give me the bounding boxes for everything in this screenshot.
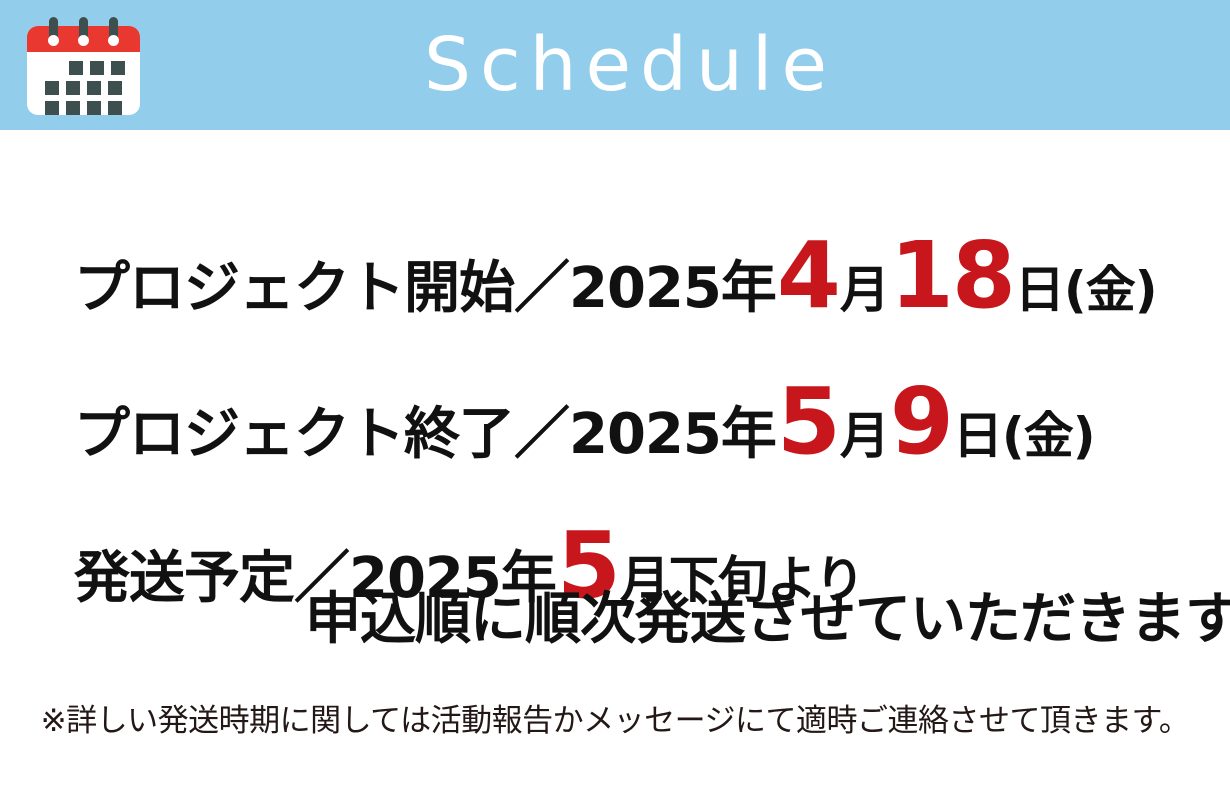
- schedule-day-number-project-end: 9: [889, 376, 953, 468]
- schedule-month-unit-project-end: 月: [840, 411, 889, 461]
- schedule-label-project-start: プロジェクト開始／2025年: [74, 261, 776, 317]
- schedule-month-number-project-end: 5: [776, 376, 840, 468]
- schedule-day-number-project-start: 18: [889, 230, 1015, 322]
- schedule-weekday-project-start: (金): [1064, 265, 1157, 315]
- schedule-day-unit-project-start: 日: [1015, 265, 1064, 315]
- schedule-continuation-shipping: 申込順に順次発送させていただきます!: [305, 592, 1230, 648]
- schedule-row-project-end: プロジェクト終了／2025年 5 月 9 日 (金): [74, 376, 1095, 468]
- schedule-day-unit-project-end: 日: [953, 411, 1002, 461]
- schedule-row-project-start: プロジェクト開始／2025年 4 月 18 日 (金): [74, 230, 1157, 322]
- schedule-month-number-project-start: 4: [776, 230, 840, 322]
- schedule-month-unit-project-start: 月: [840, 265, 889, 315]
- schedule-weekday-project-end: (金): [1002, 411, 1095, 461]
- schedule-label-project-end: プロジェクト終了／2025年: [74, 407, 776, 463]
- schedule-row-shipping-continuation: 申込順に順次発送させていただきます!: [305, 592, 1230, 648]
- footnote-note: ※詳しい発送時期に関しては活動報告かメッセージにて適時ご連絡させて頂きます。: [0, 695, 1230, 740]
- schedule-list: プロジェクト開始／2025年 4 月 18 日 (金) プロジェクト終了／202…: [0, 130, 1230, 800]
- header-band: Schedule: [0, 0, 1230, 130]
- page-title: Schedule: [0, 0, 1230, 130]
- schedule-infographic: Schedule プロジェクト開始／2025年 4 月 18 日 (金) プロジ…: [0, 0, 1230, 800]
